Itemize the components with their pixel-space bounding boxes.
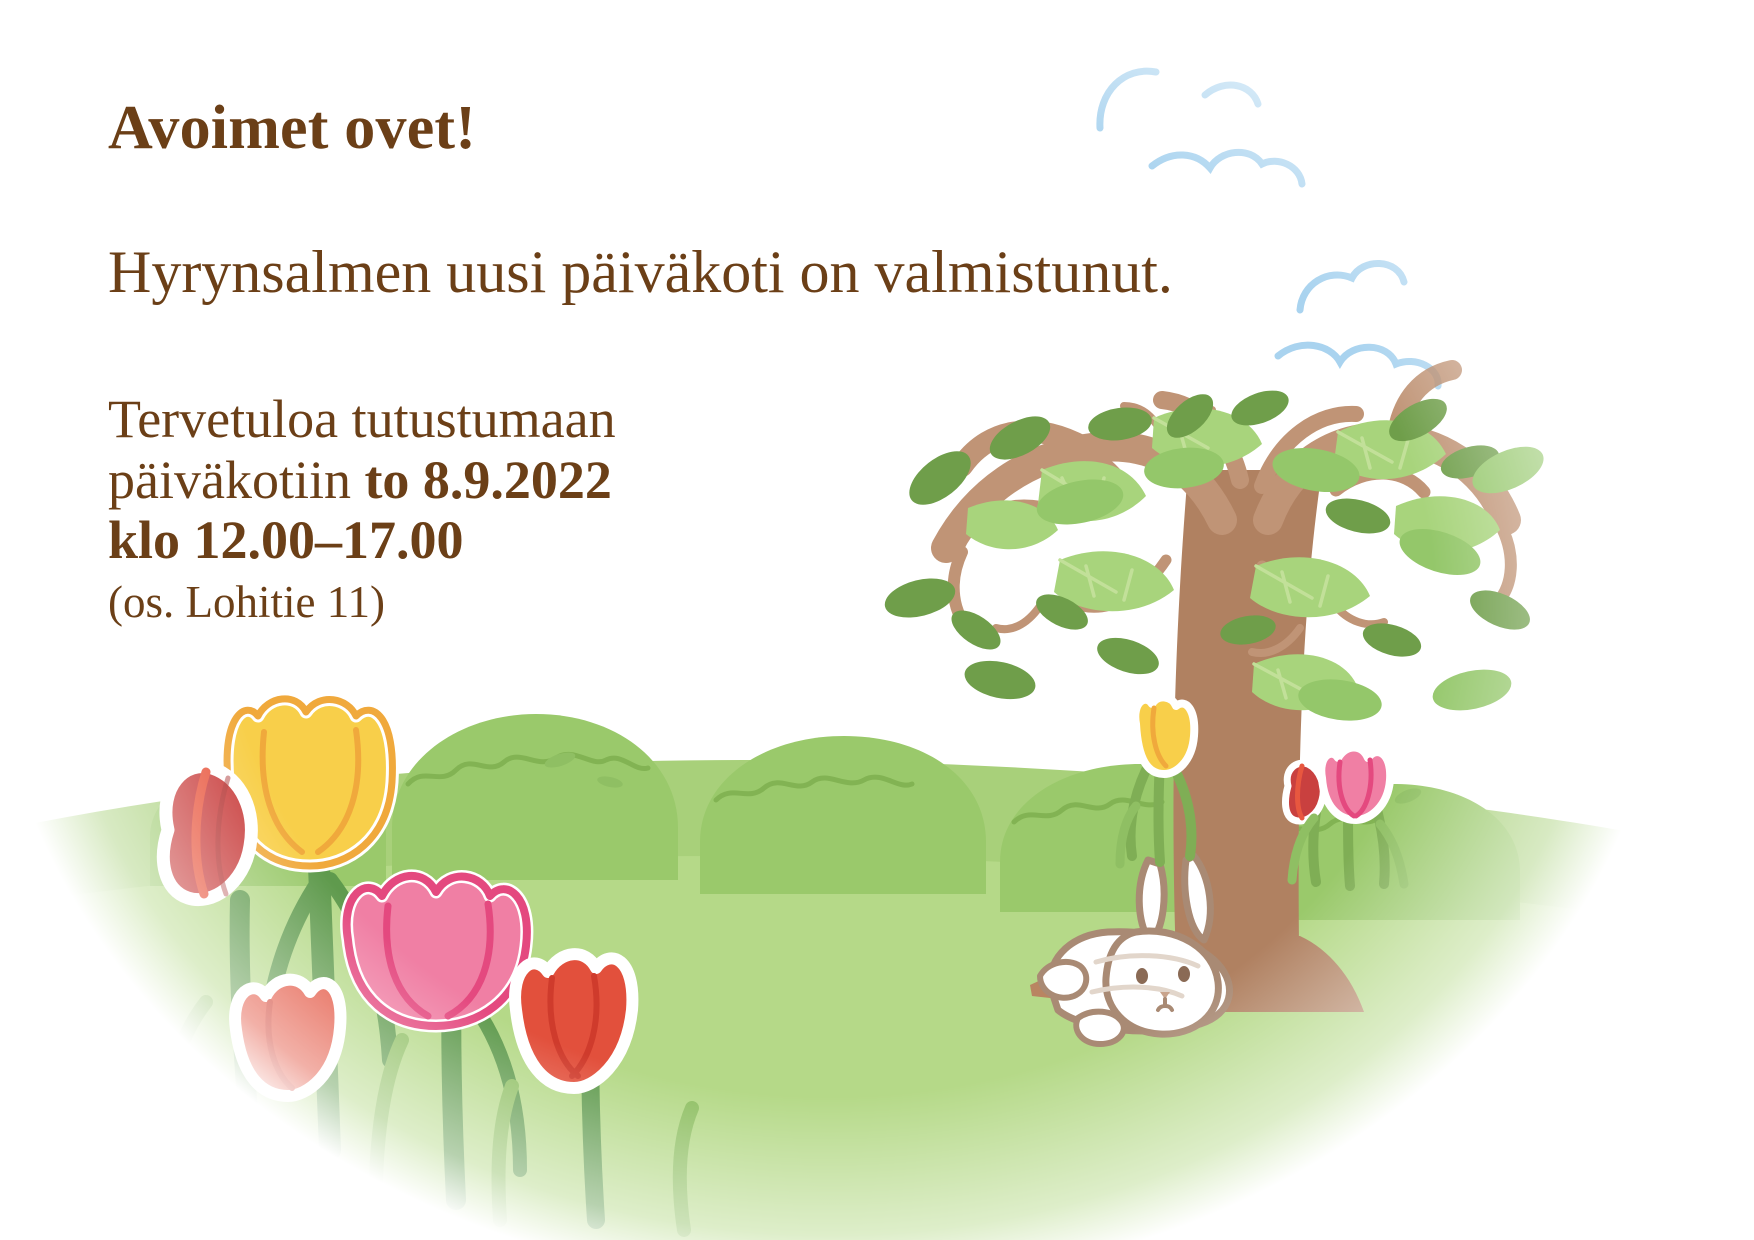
subheadline-text: Hyrynsalmen uusi päiväkoti on valmistunu… [108,239,1173,305]
event-venue-word: päiväkotiin [108,450,364,510]
tulip-red-small-right [515,954,632,1088]
subheadline: Hyrynsalmen uusi päiväkoti on valmistunu… [108,239,1448,305]
event-date: to 8.9.2022 [364,450,611,510]
event-invite-line: Tervetuloa tutustumaan [108,389,1448,449]
rabbit-paw-back [1076,1012,1123,1044]
tulip-yellow-small [1135,697,1194,774]
tulip-red-small-left [235,980,340,1096]
event-time-line: klo 12.00–17.00 [108,510,1448,570]
bush-1 [392,714,678,880]
rabbit-eye-left [1136,968,1148,984]
bush-2 [700,736,986,894]
tulip-pink-large [347,876,527,1026]
poster-text-block: Avoimet ovet! Hyrynsalmen uusi päiväkoti… [108,96,1448,628]
tulip-darkred-bud [163,767,251,900]
rabbit-eye-right [1178,966,1190,982]
poster-canvas: Avoimet ovet! Hyrynsalmen uusi päiväkoti… [0,0,1754,1240]
event-time: klo 12.00–17.00 [108,510,464,570]
event-details: Tervetuloa tutustumaan päiväkotiin to 8.… [108,389,1448,628]
tulip-pink-small [1321,748,1390,821]
page-title: Avoimet ovet! [108,96,1448,161]
event-date-line: päiväkotiin to 8.9.2022 [108,450,1448,510]
headline-text: Avoimet ovet! [108,94,476,162]
event-address: (os. Lohitie 11) [108,577,1448,629]
rabbit-paw-front [1040,962,1086,998]
